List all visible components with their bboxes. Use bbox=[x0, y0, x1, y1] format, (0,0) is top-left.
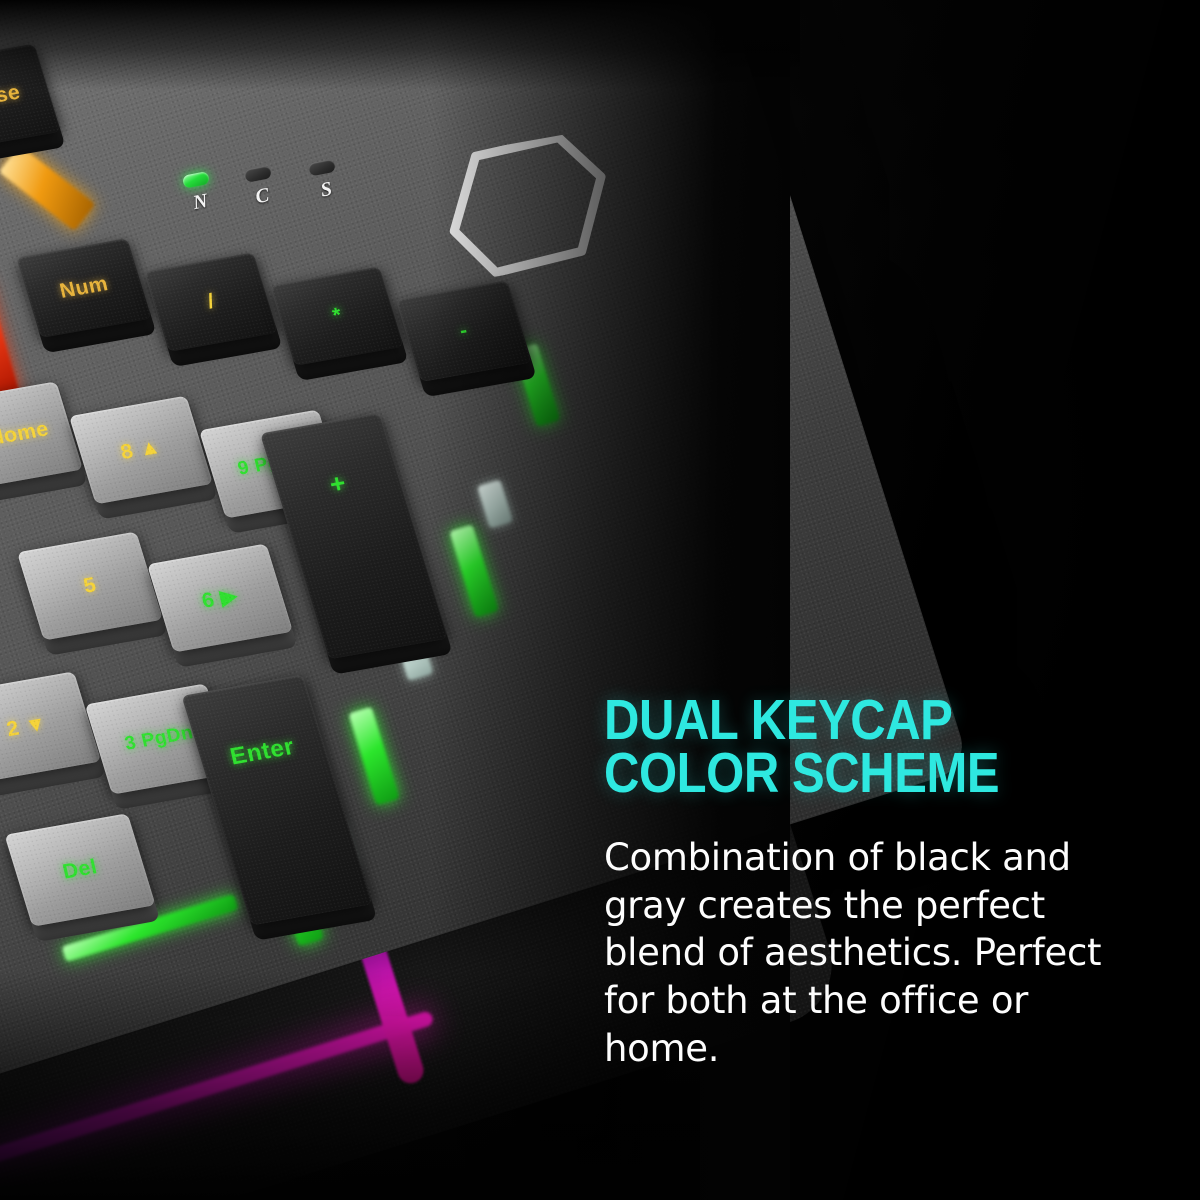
keycap-divide[interactable]: / bbox=[144, 252, 278, 352]
page-title: DUAL KEYCAP COLOR SCHEME bbox=[604, 694, 1068, 800]
scroll-lock-label: S bbox=[311, 176, 341, 204]
caps-lock-label: C bbox=[247, 183, 277, 211]
keycap-legend: 7 Home bbox=[0, 417, 51, 454]
marketing-description: Combination of black and gray creates th… bbox=[604, 834, 1124, 1073]
keycap-num[interactable]: Num bbox=[16, 238, 152, 338]
keycap-5[interactable]: 5 bbox=[17, 532, 163, 641]
keycap-legend: Enter bbox=[228, 733, 298, 771]
keycap-legend: * bbox=[330, 304, 344, 329]
product-marketing-image: N C S Pause bbox=[0, 0, 1200, 1200]
keycap-legend: 8 ▲ bbox=[119, 435, 164, 465]
keycap-legend: 6 ▶ bbox=[200, 583, 240, 613]
keycap-legend: / bbox=[205, 290, 217, 314]
keycap-legend: 5 bbox=[81, 573, 98, 598]
keycap-legend: Del bbox=[60, 855, 99, 884]
marketing-copy-block: DUAL KEYCAP COLOR SCHEME Combination of … bbox=[604, 694, 1144, 1073]
keycap-del[interactable]: Del bbox=[4, 813, 155, 926]
keycap-legend: 2 ▼ bbox=[5, 712, 50, 742]
keycap-legend: - bbox=[458, 319, 471, 344]
keycap-legend: Pause bbox=[0, 81, 23, 116]
keycap-multiply[interactable]: * bbox=[270, 266, 404, 366]
keycap-legend: 3 PgDn bbox=[123, 722, 196, 755]
keycap-minus[interactable]: - bbox=[396, 280, 532, 382]
keycap-legend: Num bbox=[57, 272, 110, 304]
keycap-legend: + bbox=[327, 467, 349, 500]
keycap-6-right[interactable]: 6 ▶ bbox=[147, 544, 293, 653]
num-lock-label: N bbox=[185, 189, 215, 217]
